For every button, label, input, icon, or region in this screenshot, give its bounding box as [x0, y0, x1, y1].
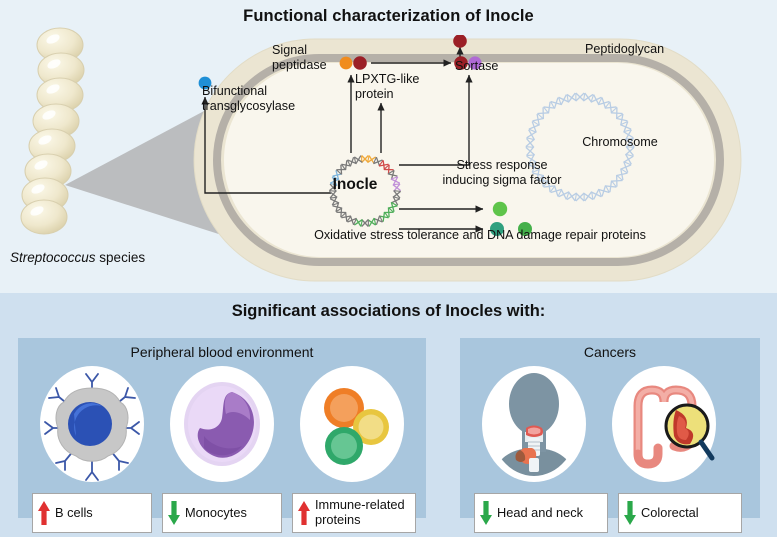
label-lpxtg-like-protein: LPXTG-likeprotein	[355, 72, 435, 102]
immune-proteins-icon	[300, 366, 404, 482]
bottom-section: Significant associations of Inocles with…	[0, 293, 777, 537]
colorectal-icon-bg	[612, 366, 716, 482]
fact-label-monocytes: Monocytes	[185, 506, 281, 521]
fact-box-head-and-neck[interactable]: Head and neck	[474, 493, 608, 533]
colorectal-icon	[612, 366, 716, 482]
panel-title-peripheral-blood: Peripheral blood environment	[18, 344, 426, 360]
down-arrow-icon	[619, 500, 641, 526]
fact-label-colorectal: Colorectal	[641, 506, 741, 521]
fact-box-immune-proteins[interactable]: Immune-related proteins	[292, 493, 416, 533]
sigma-factor-marker-green	[493, 202, 507, 216]
panel-cancers: Cancers	[460, 338, 760, 518]
monocyte-icon	[170, 366, 274, 482]
fact-label-head-and-neck: Head and neck	[497, 506, 607, 521]
down-arrow-icon	[163, 500, 185, 526]
label-stress-response: Stress responseinducing sigma factor	[432, 158, 572, 188]
panel-peripheral-blood: Peripheral blood environment	[18, 338, 426, 518]
organism-label: Streptococcus species	[10, 250, 200, 265]
associations-title: Significant associations of Inocles with…	[0, 302, 777, 321]
label-inocle: Inocle	[307, 176, 403, 194]
b-cell-icon-bg	[40, 366, 144, 482]
fact-box-monocytes[interactable]: Monocytes	[162, 493, 282, 533]
fact-label-b-cells: B cells	[55, 506, 151, 521]
down-arrow-icon	[475, 500, 497, 526]
fact-label-immune-proteins: Immune-related proteins	[315, 498, 415, 527]
coccus-cell	[21, 200, 67, 234]
top-section: Functional characterization of Inocle	[0, 0, 777, 293]
label-peptidoglycan: Peptidoglycan	[585, 42, 705, 57]
label-chromosome: Chromosome	[565, 135, 675, 150]
label-oxidative-stress: Oxidative stress tolerance and DNA damag…	[295, 228, 665, 243]
panel-title-cancers: Cancers	[460, 344, 760, 360]
fact-box-b-cells[interactable]: B cells	[32, 493, 152, 533]
head-and-neck-icon	[482, 366, 586, 482]
label-bifunctional-transglycosylase: Bifunctionaltransglycosylase	[202, 84, 317, 114]
up-arrow-icon	[33, 500, 55, 526]
label-sortase: Sortase	[455, 59, 525, 74]
immune-proteins-icon-bg	[300, 366, 404, 482]
label-signal-peptidase: Signalpeptidase	[272, 43, 362, 73]
monocyte-icon-bg	[170, 366, 274, 482]
infographic-root: Functional characterization of Inocle	[0, 0, 777, 537]
up-arrow-icon	[293, 500, 315, 526]
b-cell-icon	[40, 366, 144, 482]
organism-suffix: species	[96, 250, 146, 265]
streptococcus-chain	[20, 25, 110, 235]
page-title: Functional characterization of Inocle	[0, 7, 777, 26]
organism-genus: Streptococcus	[10, 250, 96, 265]
fact-box-colorectal[interactable]: Colorectal	[618, 493, 742, 533]
head-and-neck-icon-bg	[482, 366, 586, 482]
